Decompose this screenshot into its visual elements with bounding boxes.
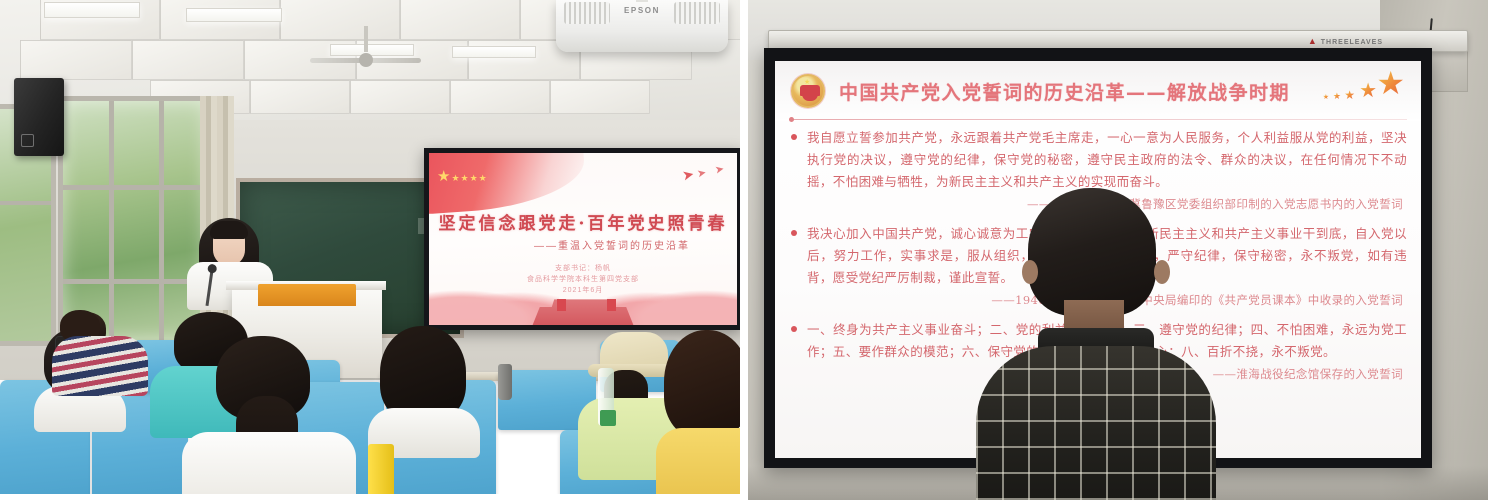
meta-line-branch: 食品科学学院本科生第四党支部 (429, 274, 737, 285)
viewer-ear (1154, 260, 1170, 284)
ceiling-fan (310, 50, 420, 72)
star-icon: ★ (1376, 67, 1405, 99)
flag-icon (557, 299, 566, 311)
viewer-head (1028, 188, 1156, 316)
three-diamond-icon: ▲ (1308, 36, 1318, 46)
student-yellow (660, 330, 744, 500)
projector-epson: EPSON (556, 0, 728, 52)
right-slide-title: 中国共产党入党誓词的历史沿革——解放战争时期 (839, 78, 1290, 105)
left-photo-classroom-wide: EPSON ★★★★★ ➤➤ ➤ 坚定信念跟党走·百年党史照青春 ——重温入党誓… (0, 0, 744, 500)
foreground-viewer (976, 188, 1216, 500)
star-icon: ★ (1344, 89, 1355, 101)
title-divider (793, 119, 1407, 120)
bullet-dot-icon (791, 134, 797, 140)
projector-brand-label: EPSON (624, 6, 660, 15)
panel-divider (740, 0, 748, 500)
flag-stars-icon: ★★★★★ (437, 167, 488, 185)
right-photo-slide-closeup: ▲THREELEAVES ★ 中国共产党入党誓词的历史沿革——解放战争时期 ★ … (744, 0, 1488, 500)
ceiling-light (186, 8, 282, 22)
water-bottle (600, 410, 616, 426)
viewer-ear (1022, 260, 1038, 284)
left-slide: ★★★★★ ➤➤ ➤ 坚定信念跟党走·百年党史照青春 ——重温入党誓词的历史沿革… (429, 153, 737, 325)
student-white-longhair (368, 326, 478, 442)
stars-decor: ★ ★ ★ ★ ★ (1287, 69, 1407, 109)
podium-cloth (258, 284, 356, 306)
bullet-dot-icon (791, 326, 797, 332)
thermos-yellow (368, 444, 394, 500)
screen-brand-label: ▲THREELEAVES (1308, 36, 1383, 46)
student-ponytail (186, 336, 346, 500)
star-icon: ★ (1359, 81, 1377, 101)
left-slide-subtitle: ——重温入党誓词的历史沿革 (429, 237, 737, 252)
left-slide-title: 坚定信念跟党走·百年党史照青春 (429, 209, 737, 234)
composite-image: EPSON ★★★★★ ➤➤ ➤ 坚定信念跟党走·百年党史照青春 ——重温入党誓… (0, 0, 1488, 500)
student-striped-polo (54, 328, 154, 400)
viewer-plaid-shirt (976, 346, 1216, 500)
oath-paragraph: 我自愿立誓参加共产党，永远跟着共产党毛主席走，一心一意为人民服务，个人利益服从党… (807, 127, 1407, 193)
star-icon: ★ (1333, 92, 1341, 101)
national-emblem-icon: ★ (791, 74, 825, 108)
ceiling-light (44, 2, 140, 18)
bullet-dot-icon (791, 230, 797, 236)
dove-icon: ➤➤ ➤ (680, 158, 728, 184)
ceiling-light (452, 46, 536, 58)
star-icon: ★ (1323, 94, 1329, 101)
left-projection-screen: ★★★★★ ➤➤ ➤ 坚定信念跟党走·百年党史照青春 ——重温入党誓词的历史沿革… (424, 148, 742, 330)
flag-icon (607, 299, 616, 311)
slide-header: ★ 中国共产党入党誓词的历史沿革——解放战争时期 ★ ★ ★ ★ ★ (775, 61, 1421, 121)
meta-line-presenter: 支部书记：杨帆 (429, 263, 737, 274)
thermos-grey (498, 364, 512, 400)
wall-speaker (14, 78, 64, 156)
